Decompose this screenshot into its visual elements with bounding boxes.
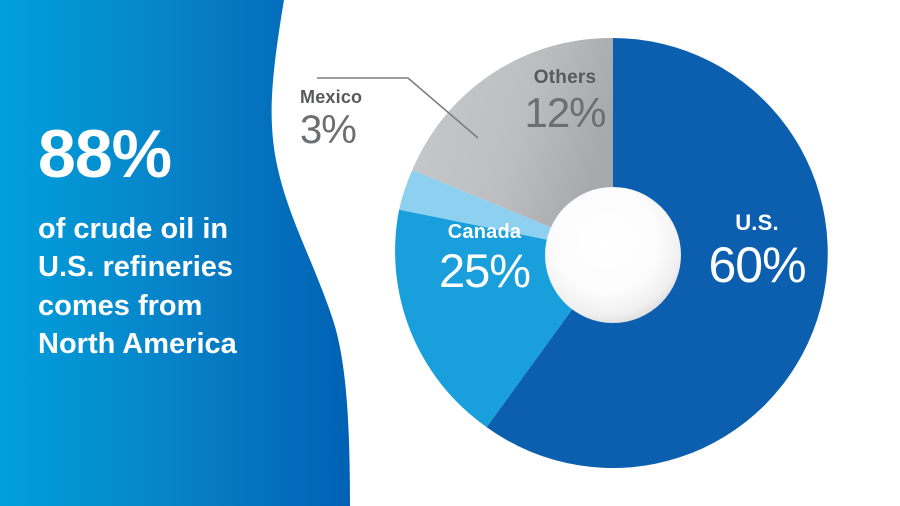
donut-hole xyxy=(545,187,681,323)
pie-chart xyxy=(0,0,900,506)
infographic-root: 88% of crude oil in U.S. refineries come… xyxy=(0,0,900,506)
